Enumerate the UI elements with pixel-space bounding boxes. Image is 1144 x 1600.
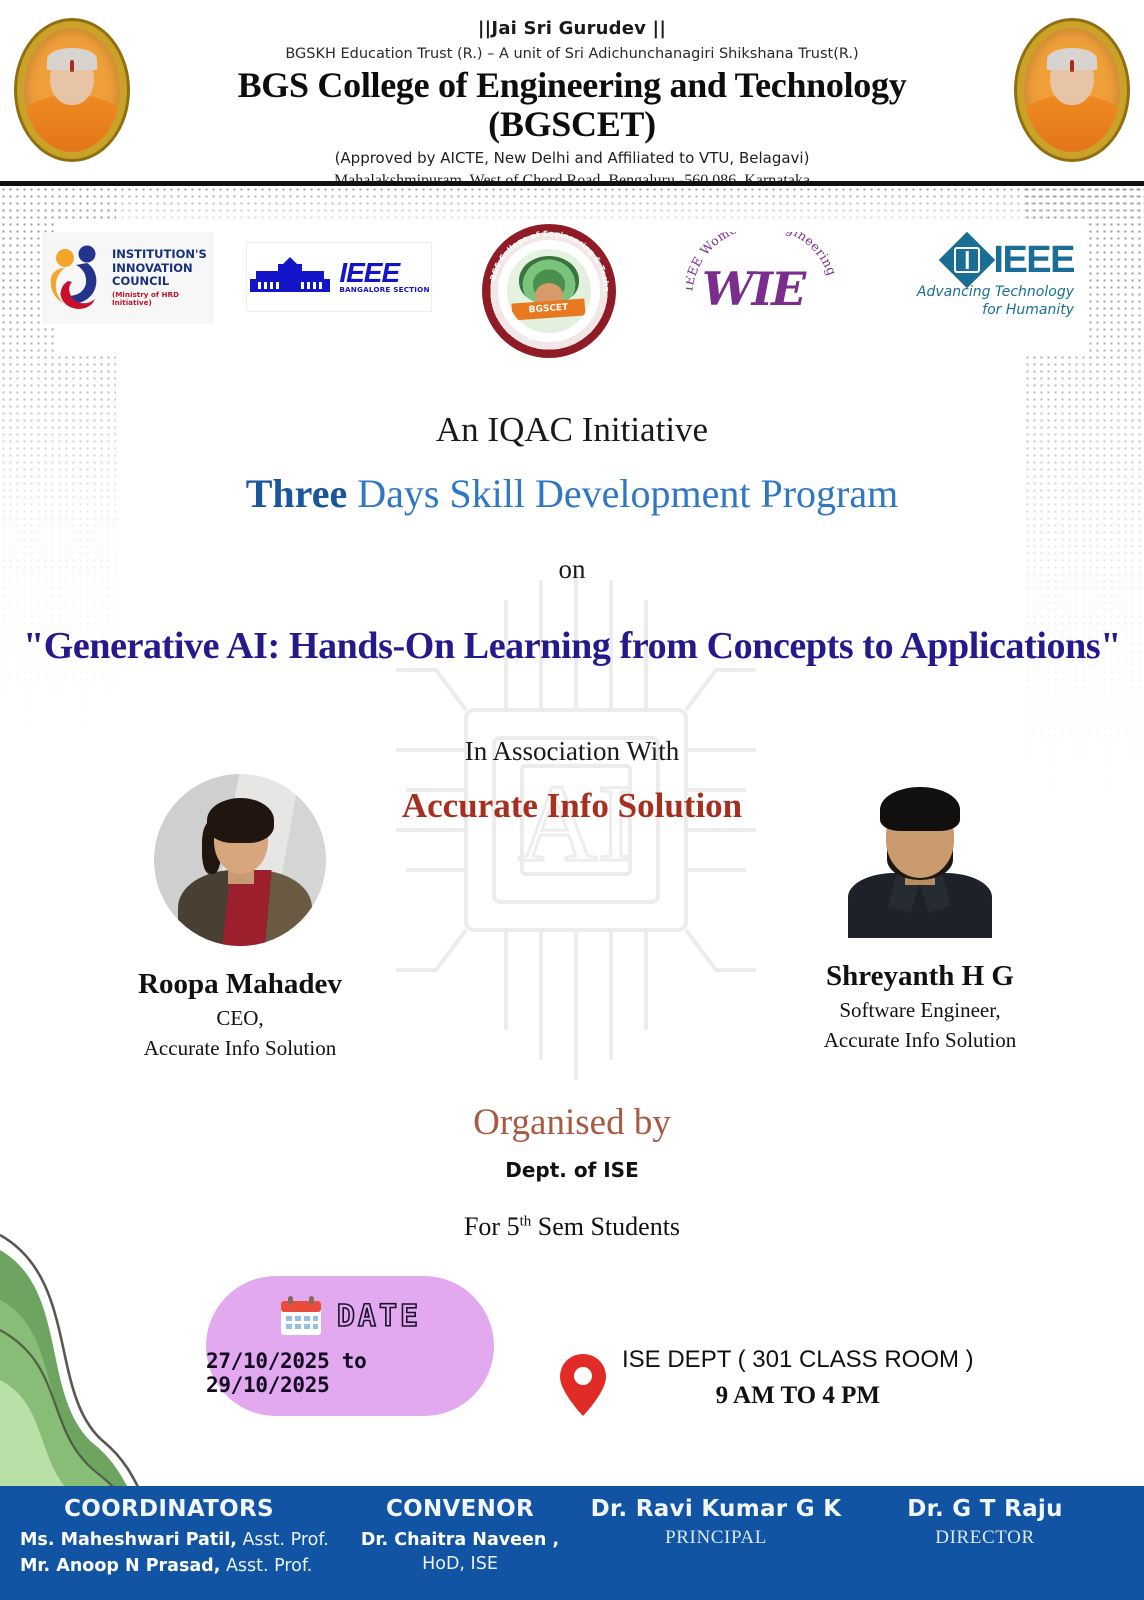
iic-line-2: INNOVATION bbox=[112, 262, 214, 276]
ieee-tagline-2: for Humanity bbox=[888, 302, 1074, 320]
ieee-bangalore-section-logo: IEEE BANGALORE SECTION bbox=[246, 242, 432, 312]
convenor-name: Dr. Chaitra Naveen , bbox=[361, 1530, 559, 1550]
audience-pre: For 5 bbox=[464, 1212, 520, 1241]
speaker-1-role: CEO, bbox=[100, 1005, 380, 1031]
address-line: Mahalakshmipuram, West of Chord Road, Be… bbox=[170, 172, 974, 181]
ieee-tagline-1: Advancing Technology bbox=[888, 284, 1074, 302]
ieee-bangalore-subtitle: BANGALORE SECTION bbox=[339, 285, 429, 294]
target-audience-line: For 5th Sem Students bbox=[0, 1212, 1144, 1242]
coordinators-heading: COORDINATORS bbox=[4, 1496, 334, 1522]
organising-department: Dept. of ISE bbox=[0, 1158, 1144, 1182]
speaker-2-name: Shreyanth H G bbox=[780, 960, 1060, 993]
iic-line-3: COUNCIL bbox=[112, 275, 214, 289]
seer-portrait-right-icon bbox=[1024, 28, 1120, 152]
footer-bar: COORDINATORS Ms. Maheshwari Patil, Asst.… bbox=[0, 1486, 1144, 1600]
map-pin-icon bbox=[560, 1354, 606, 1416]
footer-director: Dr. G T Raju DIRECTOR bbox=[860, 1496, 1110, 1549]
wie-script-wordmark: WIE bbox=[702, 266, 822, 312]
speaker-photo-shreyanth-hg bbox=[834, 766, 1006, 938]
iic-wordmark: INSTITUTION'S INNOVATION COUNCIL (Minist… bbox=[112, 248, 214, 308]
director-name: Dr. G T Raju bbox=[860, 1496, 1110, 1522]
coordinator-1-name: Ms. Maheshwari Patil, bbox=[20, 1530, 237, 1550]
speaker-2-role: Software Engineer, bbox=[780, 997, 1060, 1023]
date-badge-value: 27/10/2025 to 29/10/2025 bbox=[206, 1349, 494, 1397]
organised-by-label: Organised by bbox=[0, 1101, 1144, 1144]
calendar-icon bbox=[279, 1295, 323, 1337]
poster-body: AI INSTITUTION'S INNOVATION bbox=[0, 186, 1144, 1600]
convenor-name-row: Dr. Chaitra Naveen , bbox=[336, 1529, 584, 1553]
audience-ordinal: th bbox=[520, 1213, 532, 1229]
letterhead: ||Jai Sri Gurudev || BGSKH Education Tru… bbox=[0, 0, 1144, 181]
program-title-rest: Days Skill Development Program bbox=[347, 471, 898, 516]
director-designation: DIRECTOR bbox=[860, 1527, 1110, 1549]
ieee-women-in-engineering-logo: IEEE Women in Engineering WIE bbox=[686, 232, 836, 342]
venue-timing: 9 AM TO 4 PM bbox=[622, 1382, 974, 1410]
bgscet-seal-band-text: BGSCET bbox=[512, 298, 586, 320]
college-name: BGS College of Engineering and Technolog… bbox=[170, 66, 974, 145]
venue-place: ISE DEPT ( 301 CLASS ROOM ) bbox=[622, 1346, 974, 1374]
date-badge-label: DATE bbox=[337, 1299, 421, 1334]
convenor-designation: HoD, ISE bbox=[336, 1553, 584, 1577]
coordinator-1: Ms. Maheshwari Patil, Asst. Prof. bbox=[4, 1529, 334, 1553]
bgscet-seal-band: BGSCET bbox=[512, 298, 586, 320]
program-title-prefix: Three bbox=[246, 471, 347, 516]
audience-post: Sem Students bbox=[531, 1212, 680, 1241]
speaker-card-2: Shreyanth H G Software Engineer, Accurat… bbox=[780, 766, 1060, 1054]
ieee-bangalore-wordmark: IEEE bbox=[339, 260, 429, 285]
principal-name: Dr. Ravi Kumar G K bbox=[586, 1496, 846, 1522]
speaker-2-org: Accurate Info Solution bbox=[780, 1027, 1060, 1053]
logo-strip: INSTITUTION'S INNOVATION COUNCIL (Minist… bbox=[0, 224, 1144, 354]
footer-coordinators: COORDINATORS Ms. Maheshwari Patil, Asst.… bbox=[4, 1496, 334, 1578]
footer-principal: Dr. Ravi Kumar G K PRINCIPAL bbox=[586, 1496, 846, 1549]
approval-line: (Approved by AICTE, New Delhi and Affili… bbox=[170, 149, 974, 167]
speaker-photo-roopa-mahadev bbox=[154, 774, 326, 946]
ieee-diamond-icon bbox=[939, 232, 996, 289]
speaker-1-name: Roopa Mahadev bbox=[100, 968, 380, 1001]
iqac-initiative-line: An IQAC Initiative bbox=[0, 410, 1144, 450]
association-label: In Association With bbox=[0, 736, 1144, 767]
event-title: "Generative AI: Hands-On Learning from C… bbox=[0, 624, 1144, 668]
vidhana-soudha-icon bbox=[248, 257, 332, 297]
letterhead-text: ||Jai Sri Gurudev || BGSKH Education Tru… bbox=[170, 18, 974, 181]
ieee-wordmark: IEEE bbox=[993, 243, 1074, 277]
program-title-line: Three Days Skill Development Program bbox=[0, 474, 1144, 514]
iic-line-1: INSTITUTION'S bbox=[112, 248, 214, 262]
coordinator-2: Mr. Anoop N Prasad, Asst. Prof. bbox=[4, 1555, 334, 1579]
bgscet-seal-logo: BGS College of Engineering & Technology … bbox=[482, 224, 616, 358]
seer-portrait-left-icon bbox=[24, 28, 120, 152]
iic-mark-icon bbox=[48, 241, 106, 315]
date-badge: DATE 27/10/2025 to 29/10/2025 bbox=[206, 1276, 494, 1416]
iic-subline: (Ministry of HRD Initiative) bbox=[112, 291, 214, 308]
venue-block: ISE DEPT ( 301 CLASS ROOM ) 9 AM TO 4 PM bbox=[560, 1346, 1080, 1416]
speaker-1-org: Accurate Info Solution bbox=[100, 1035, 380, 1061]
bgscet-seal-inner: BGSCET bbox=[507, 249, 590, 332]
coordinator-2-title: Asst. Prof. bbox=[220, 1556, 312, 1576]
principal-designation: PRINCIPAL bbox=[586, 1527, 846, 1549]
ieee-logo: IEEE Advancing Technology for Humanity bbox=[888, 240, 1074, 338]
jai-sri-gurudev-line: ||Jai Sri Gurudev || bbox=[170, 18, 974, 40]
convenor-heading: CONVENOR bbox=[336, 1496, 584, 1522]
trust-line: BGSKH Education Trust (R.) – A unit of S… bbox=[170, 46, 974, 62]
coordinator-1-title: Asst. Prof. bbox=[237, 1530, 329, 1550]
footer-convenor: CONVENOR Dr. Chaitra Naveen , HoD, ISE bbox=[336, 1496, 584, 1576]
speaker-card-1: Roopa Mahadev CEO, Accurate Info Solutio… bbox=[100, 774, 380, 1062]
coordinator-2-name: Mr. Anoop N Prasad, bbox=[20, 1556, 220, 1576]
on-connector: on bbox=[0, 554, 1144, 585]
institutions-innovation-council-logo: INSTITUTION'S INNOVATION COUNCIL (Minist… bbox=[42, 232, 214, 324]
